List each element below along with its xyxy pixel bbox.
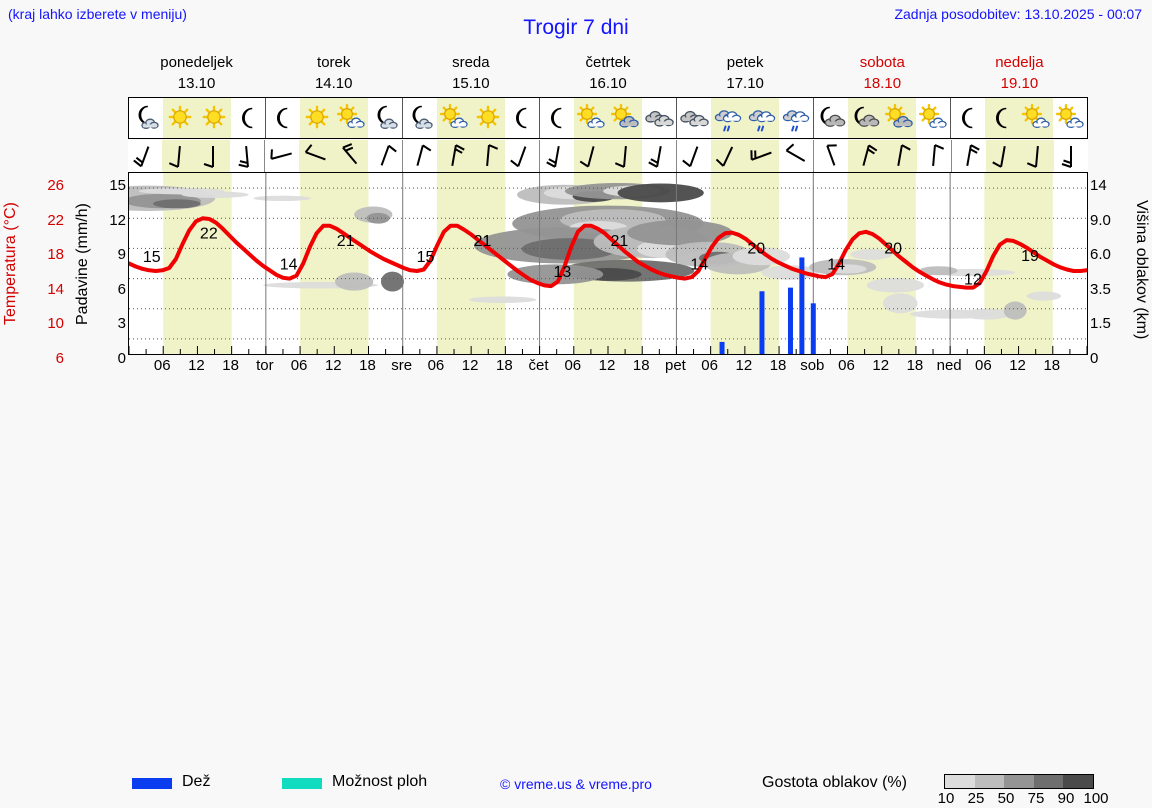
x-tick-label: 18 — [359, 357, 376, 374]
wind-barb-icon — [540, 140, 574, 172]
precipitation-tick: 0 — [118, 350, 126, 367]
icon-day-group — [951, 98, 1087, 138]
x-tick-label: 12 — [325, 357, 342, 374]
wind-barb-icon — [230, 140, 264, 172]
cloud-density-ramp-step — [1004, 775, 1034, 788]
x-tick-label: 12 — [462, 357, 479, 374]
wind-day-group — [677, 140, 814, 172]
wind-barb-icon — [711, 140, 745, 172]
x-axis-tick-labels: 061218tor061218sre061218čet061218pet0612… — [128, 357, 1088, 377]
temperature-tick: 14 — [47, 281, 64, 298]
temperature-value-label: 21 — [611, 233, 629, 250]
cloud-height-axis-title: Višina oblakov (km) — [1124, 175, 1150, 365]
grey-cloud-icon — [642, 98, 676, 138]
temperature-tick: 6 — [56, 350, 64, 367]
day-name: nedelja — [951, 52, 1088, 73]
moon-cloud-icon — [368, 98, 402, 138]
x-tick-label: 18 — [496, 357, 513, 374]
temperature-value-label: 21 — [474, 233, 492, 250]
wind-barb-icon — [437, 140, 471, 172]
icon-day-group — [266, 98, 403, 138]
day-date: 17.10 — [677, 73, 814, 94]
wind-barb-icon — [848, 140, 882, 172]
precipitation-axis-ticks: 15129630 — [100, 163, 126, 363]
day-header-ponedeljek: ponedeljek13.10 — [128, 52, 265, 96]
icon-day-group — [403, 98, 540, 138]
wind-barb-icon — [779, 140, 813, 172]
sun-cloud-icon — [916, 98, 950, 138]
grey-cloud-icon — [677, 98, 711, 138]
x-tick-label: 18 — [770, 357, 787, 374]
cloud-height-axis-ticks: 149.06.03.51.50 — [1090, 163, 1128, 363]
legend-label-showers: Možnost ploh — [332, 773, 427, 791]
wind-barb-strip — [128, 140, 1088, 172]
x-tick-label: tor — [256, 357, 274, 374]
day-name: sreda — [402, 52, 539, 73]
precipitation-tick: 6 — [118, 281, 126, 298]
temperature-axis-title: Temperatura (°C) — [2, 175, 28, 353]
x-tick-label: 06 — [701, 357, 718, 374]
temperature-value-label: 15 — [417, 249, 435, 266]
wind-barb-icon — [677, 140, 711, 172]
moon-grey-cloud-icon — [814, 98, 848, 138]
temperature-value-label: 22 — [200, 225, 218, 242]
wind-barb-icon — [574, 140, 608, 172]
wind-barb-icon — [883, 140, 917, 172]
cloud-density-tick: 100 — [1083, 790, 1108, 807]
day-name: petek — [677, 52, 814, 73]
wind-barb-icon — [745, 140, 779, 172]
wind-barb-icon — [333, 140, 367, 172]
temperature-value-label: 12 — [964, 272, 982, 289]
temperature-value-label: 21 — [337, 233, 355, 250]
temperature-value-label: 14 — [280, 257, 298, 274]
temperature-value-label: 13 — [553, 264, 571, 281]
legend-swatch-rain — [132, 778, 172, 789]
weather-icon-strip — [128, 97, 1088, 139]
sun-icon — [300, 98, 334, 138]
day-header-sreda: sreda15.10 — [402, 52, 539, 96]
moon-icon — [231, 98, 265, 138]
cloud-density-legend-title: Gostota oblakov (%) — [762, 774, 907, 792]
x-tick-label: 06 — [838, 357, 855, 374]
x-tick-label: sre — [391, 357, 412, 374]
temperature-tick: 18 — [47, 246, 64, 263]
precipitation-axis-title: Padavine (mm/h) — [74, 175, 100, 353]
day-name: torek — [265, 52, 402, 73]
cloud-density-tick: 10 — [938, 790, 955, 807]
x-tick-label: ned — [937, 357, 962, 374]
temperature-axis-ticks: 26221814106 — [28, 163, 64, 363]
temperature-tick: 22 — [47, 212, 64, 229]
sun-grey-cloud-icon — [882, 98, 916, 138]
icon-day-group — [814, 98, 951, 138]
cloud-density-ramp-step — [975, 775, 1005, 788]
copyright-link[interactable]: © vreme.us & vreme.pro — [500, 776, 652, 792]
wind-barb-icon — [196, 140, 230, 172]
meteogram-plot: 152214211521132114201420121915 — [128, 172, 1088, 355]
x-tick-label: 12 — [872, 357, 889, 374]
last-update-label: Zadnja posodobitev: 13.10.2025 - 00:07 — [894, 6, 1142, 22]
day-date: 19.10 — [951, 73, 1088, 94]
day-date: 15.10 — [402, 73, 539, 94]
temperature-tick: 26 — [47, 177, 64, 194]
icon-day-group — [540, 98, 677, 138]
day-date: 14.10 — [265, 73, 402, 94]
x-tick-label: sob — [800, 357, 824, 374]
legend-label-rain: Dež — [182, 773, 210, 791]
wind-barb-icon — [299, 140, 333, 172]
day-header-nedelja: nedelja19.10 — [951, 52, 1088, 96]
wind-barb-icon — [1054, 140, 1088, 172]
cloud-height-tick: 3.5 — [1090, 281, 1111, 298]
sun-icon — [197, 98, 231, 138]
wind-barb-icon — [128, 140, 162, 172]
wind-barb-icon — [162, 140, 196, 172]
icon-day-group — [129, 98, 266, 138]
temperature-value-label: 14 — [690, 257, 708, 274]
cloud-density-ramp-step — [1063, 775, 1093, 788]
temperature-tick: 10 — [47, 315, 64, 332]
temperature-value-label: 14 — [827, 257, 845, 274]
wind-barb-icon — [368, 140, 402, 172]
x-tick-label: pet — [665, 357, 686, 374]
precipitation-tick: 15 — [109, 177, 126, 194]
moon-icon — [951, 98, 985, 138]
wind-barb-icon — [917, 140, 951, 172]
cloud-density-ramp-step — [945, 775, 975, 788]
day-header-row: ponedeljek13.10torek14.10sreda15.10četrt… — [128, 52, 1088, 96]
precipitation-tick: 9 — [118, 246, 126, 263]
legend-swatch-showers — [282, 778, 322, 789]
temperature-value-label: 19 — [1021, 248, 1039, 265]
x-tick-label: 06 — [975, 357, 992, 374]
wind-barb-icon — [403, 140, 437, 172]
cloud-density-color-ramp — [944, 774, 1094, 789]
cloud-height-tick: 9.0 — [1090, 212, 1111, 229]
precipitation-tick: 12 — [109, 212, 126, 229]
wind-day-group — [814, 140, 951, 172]
rain-cloud-icon — [711, 98, 745, 138]
wind-barb-icon — [952, 140, 986, 172]
cloud-density-ramp-step — [1034, 775, 1064, 788]
x-tick-label: 06 — [154, 357, 171, 374]
moon-icon — [985, 98, 1019, 138]
wind-barb-icon — [1020, 140, 1054, 172]
wind-barb-icon — [505, 140, 539, 172]
moon-icon — [266, 98, 300, 138]
sun-cloud-icon — [334, 98, 368, 138]
x-tick-label: 12 — [188, 357, 205, 374]
wind-day-group — [540, 140, 677, 172]
wind-barb-icon — [471, 140, 505, 172]
rain-cloud-icon — [779, 98, 813, 138]
moon-icon — [505, 98, 539, 138]
x-tick-label: 18 — [633, 357, 650, 374]
day-header-torek: torek14.10 — [265, 52, 402, 96]
wind-day-group — [128, 140, 265, 172]
wind-barb-icon — [814, 140, 848, 172]
day-date: 13.10 — [128, 73, 265, 94]
temperature-value-label: 20 — [747, 240, 765, 257]
day-header-sobota: sobota18.10 — [814, 52, 951, 96]
x-tick-label: 18 — [222, 357, 239, 374]
day-name: sobota — [814, 52, 951, 73]
x-tick-label: 06 — [291, 357, 308, 374]
meteogram-svg: 152214211521132114201420121915 — [129, 173, 1087, 354]
rain-cloud-icon — [745, 98, 779, 138]
temperature-value-label: 15 — [143, 249, 161, 266]
sun-icon — [471, 98, 505, 138]
sun-cloud-icon — [437, 98, 471, 138]
moon-cloud-icon — [403, 98, 437, 138]
sun-grey-cloud-icon — [608, 98, 642, 138]
day-date: 18.10 — [814, 73, 951, 94]
x-tick-label: 18 — [907, 357, 924, 374]
cloud-height-tick: 0 — [1090, 350, 1098, 367]
x-tick-label: 12 — [736, 357, 753, 374]
sun-cloud-icon — [574, 98, 608, 138]
cloud-density-tick: 90 — [1058, 790, 1075, 807]
moon-grey-cloud-icon — [848, 98, 882, 138]
x-tick-label: 06 — [428, 357, 445, 374]
moon-icon — [540, 98, 574, 138]
wind-day-group — [265, 140, 402, 172]
day-name: ponedeljek — [128, 52, 265, 73]
cloud-height-tick: 6.0 — [1090, 246, 1111, 263]
icon-day-group — [677, 98, 814, 138]
wind-barb-icon — [642, 140, 676, 172]
cloud-density-tick: 50 — [998, 790, 1015, 807]
wind-day-group — [403, 140, 540, 172]
day-date: 16.10 — [539, 73, 676, 94]
sun-icon — [163, 98, 197, 138]
temperature-value-label: 20 — [884, 240, 902, 257]
x-tick-label: 12 — [1009, 357, 1026, 374]
cloud-density-ramp-labels: 1025507590100 — [934, 790, 1109, 808]
x-tick-label: 12 — [599, 357, 616, 374]
cloud-height-tick: 1.5 — [1090, 315, 1111, 332]
cloud-height-tick: 14 — [1090, 177, 1107, 194]
wind-day-group — [952, 140, 1088, 172]
cloud-density-tick: 25 — [968, 790, 985, 807]
day-name: četrtek — [539, 52, 676, 73]
sun-cloud-icon — [1053, 98, 1087, 138]
day-header-petek: petek17.10 — [677, 52, 814, 96]
wind-barb-icon — [265, 140, 299, 172]
wind-barb-icon — [986, 140, 1020, 172]
x-tick-label: čet — [529, 357, 549, 374]
day-header-četrtek: četrtek16.10 — [539, 52, 676, 96]
x-tick-label: 18 — [1043, 357, 1060, 374]
precipitation-tick: 3 — [118, 315, 126, 332]
wind-barb-icon — [608, 140, 642, 172]
x-tick-label: 06 — [564, 357, 581, 374]
cloud-density-tick: 75 — [1028, 790, 1045, 807]
chart-legend: Dež Možnost ploh © vreme.us & vreme.pro … — [0, 386, 1152, 426]
sun-cloud-icon — [1019, 98, 1053, 138]
moon-cloud-icon — [129, 98, 163, 138]
